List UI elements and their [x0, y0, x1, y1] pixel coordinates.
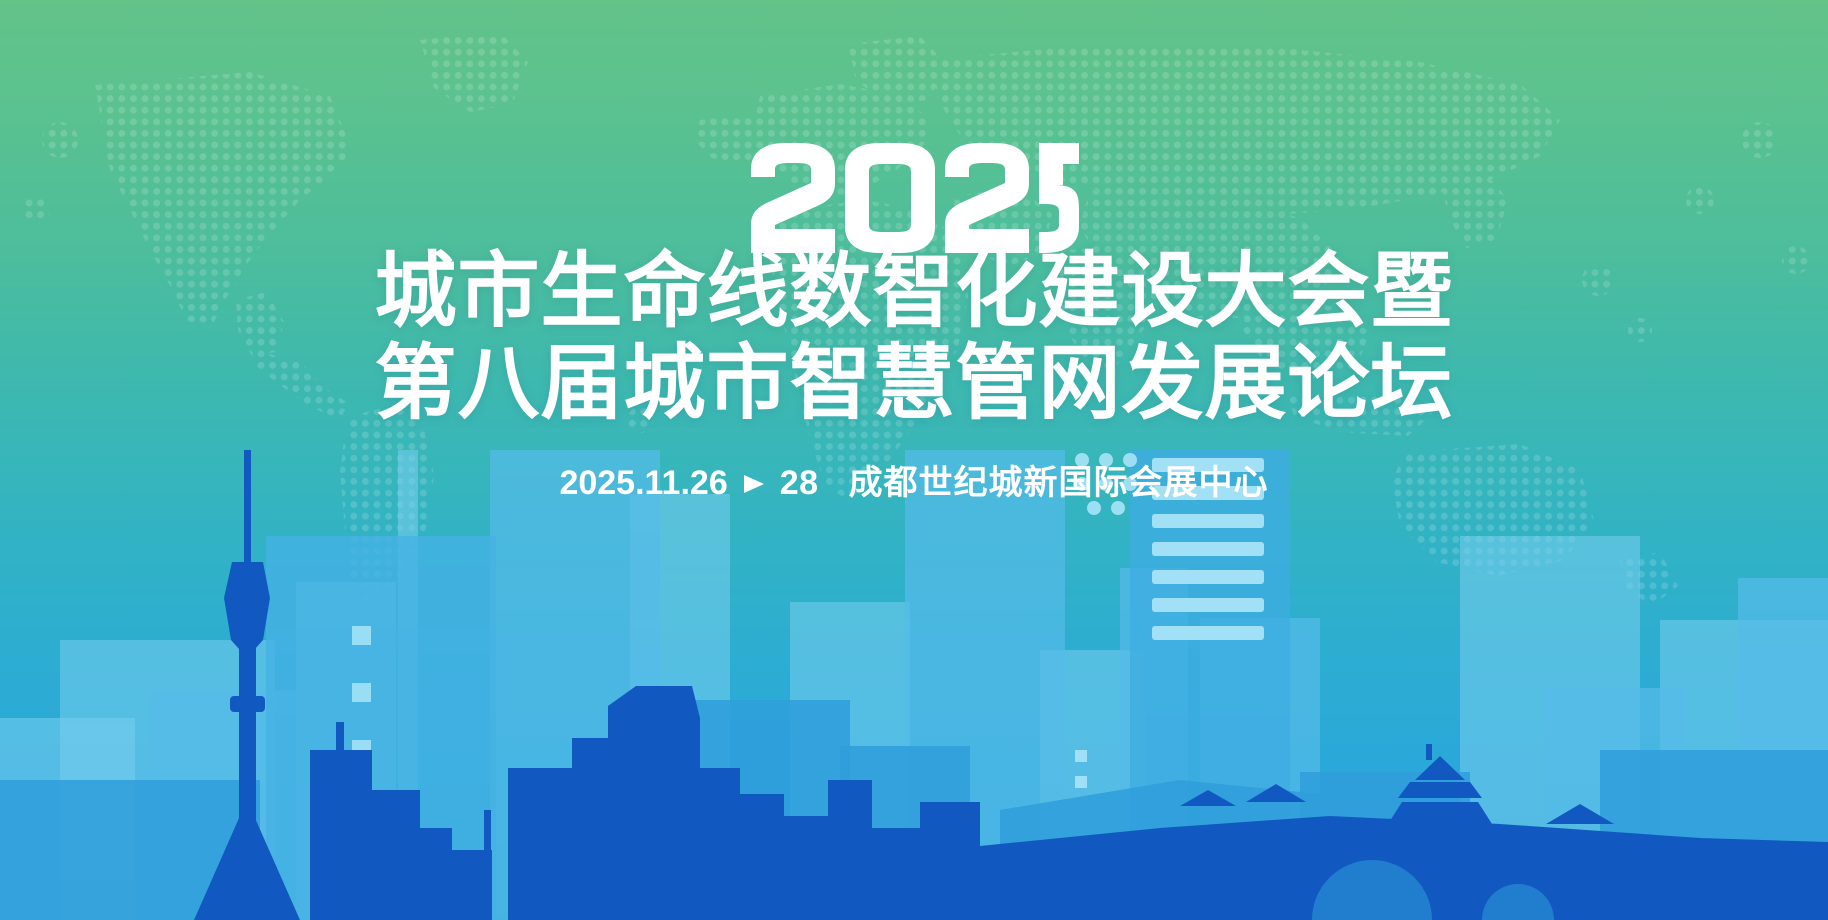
event-year — [0, 138, 1828, 253]
banner-content: 城市生命线数智化建设大会暨 第八届城市智慧管网发展论坛 2025.11.26 2… — [0, 0, 1828, 920]
conference-title-line-1: 城市生命线数智化建设大会暨 — [0, 251, 1828, 333]
conference-title-line-2: 第八届城市智慧管网发展论坛 — [0, 343, 1828, 425]
year-2025-glyphs — [749, 143, 1079, 253]
event-venue: 成都世纪城新国际会展中心 — [849, 466, 1269, 500]
date-range-arrow-icon — [741, 467, 767, 501]
conference-banner: 城市生命线数智化建设大会暨 第八届城市智慧管网发展论坛 2025.11.26 2… — [0, 0, 1828, 920]
event-date-start: 2025.11.26 — [559, 466, 727, 500]
event-date-end: 28 — [780, 466, 819, 500]
event-meta: 2025.11.26 28 成都世纪城新国际会展中心 — [0, 466, 1828, 500]
